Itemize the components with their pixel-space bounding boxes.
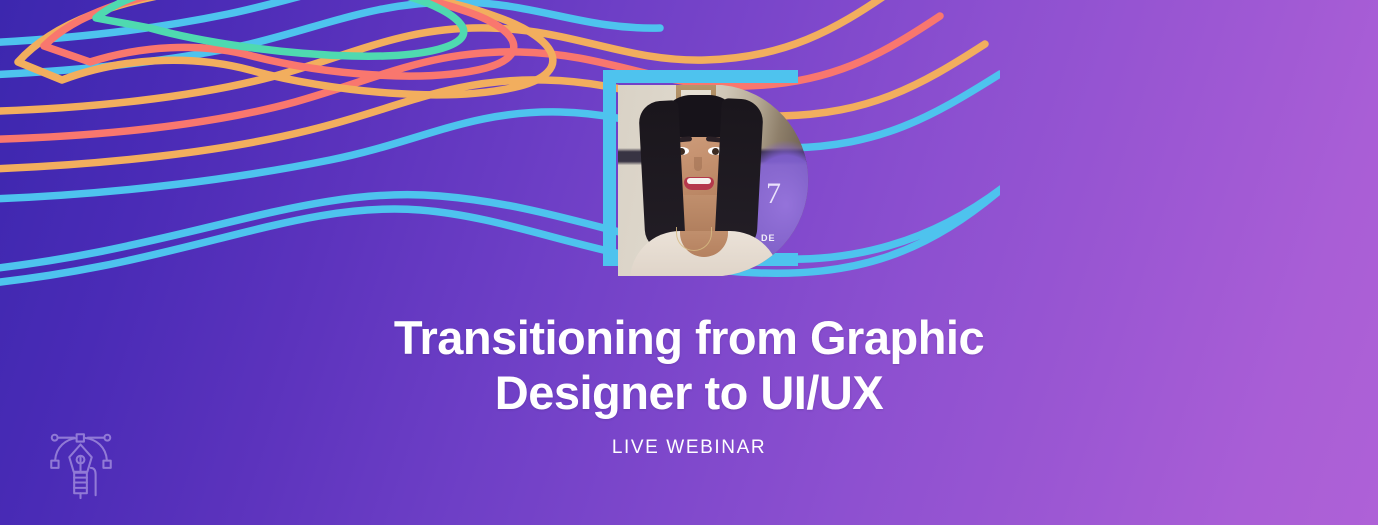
contour-line-1 [0,74,1000,200]
contour-line-0 [0,186,1000,286]
hair-front-right [714,98,764,252]
pen-tool-bezier-logo-icon [42,425,120,503]
contour-line-7 [18,0,553,95]
contour-line-9 [96,0,464,56]
nose [694,157,702,171]
subtitle: LIVE WEBINAR [0,437,1378,459]
mouth [684,177,714,190]
teeth [687,178,711,184]
page-title: Transitioning from Graphic Designer to U… [0,310,1378,420]
background-screen-label: DE [761,233,776,243]
speaker-portrait: 7 DE [603,70,815,278]
topographic-contour-artwork [0,0,1000,320]
contour-line-5 [0,2,660,76]
contour-line-2 [0,44,985,170]
webinar-banner: 7 DE Transitioning f [0,0,1378,525]
page-title-line-2: Designer to UI/UX [0,365,1378,420]
page-title-line-1: Transitioning from Graphic [0,310,1378,365]
contour-line-8 [44,0,514,76]
contour-line-6 [0,0,410,44]
background-screen-number: 7 [766,177,781,211]
